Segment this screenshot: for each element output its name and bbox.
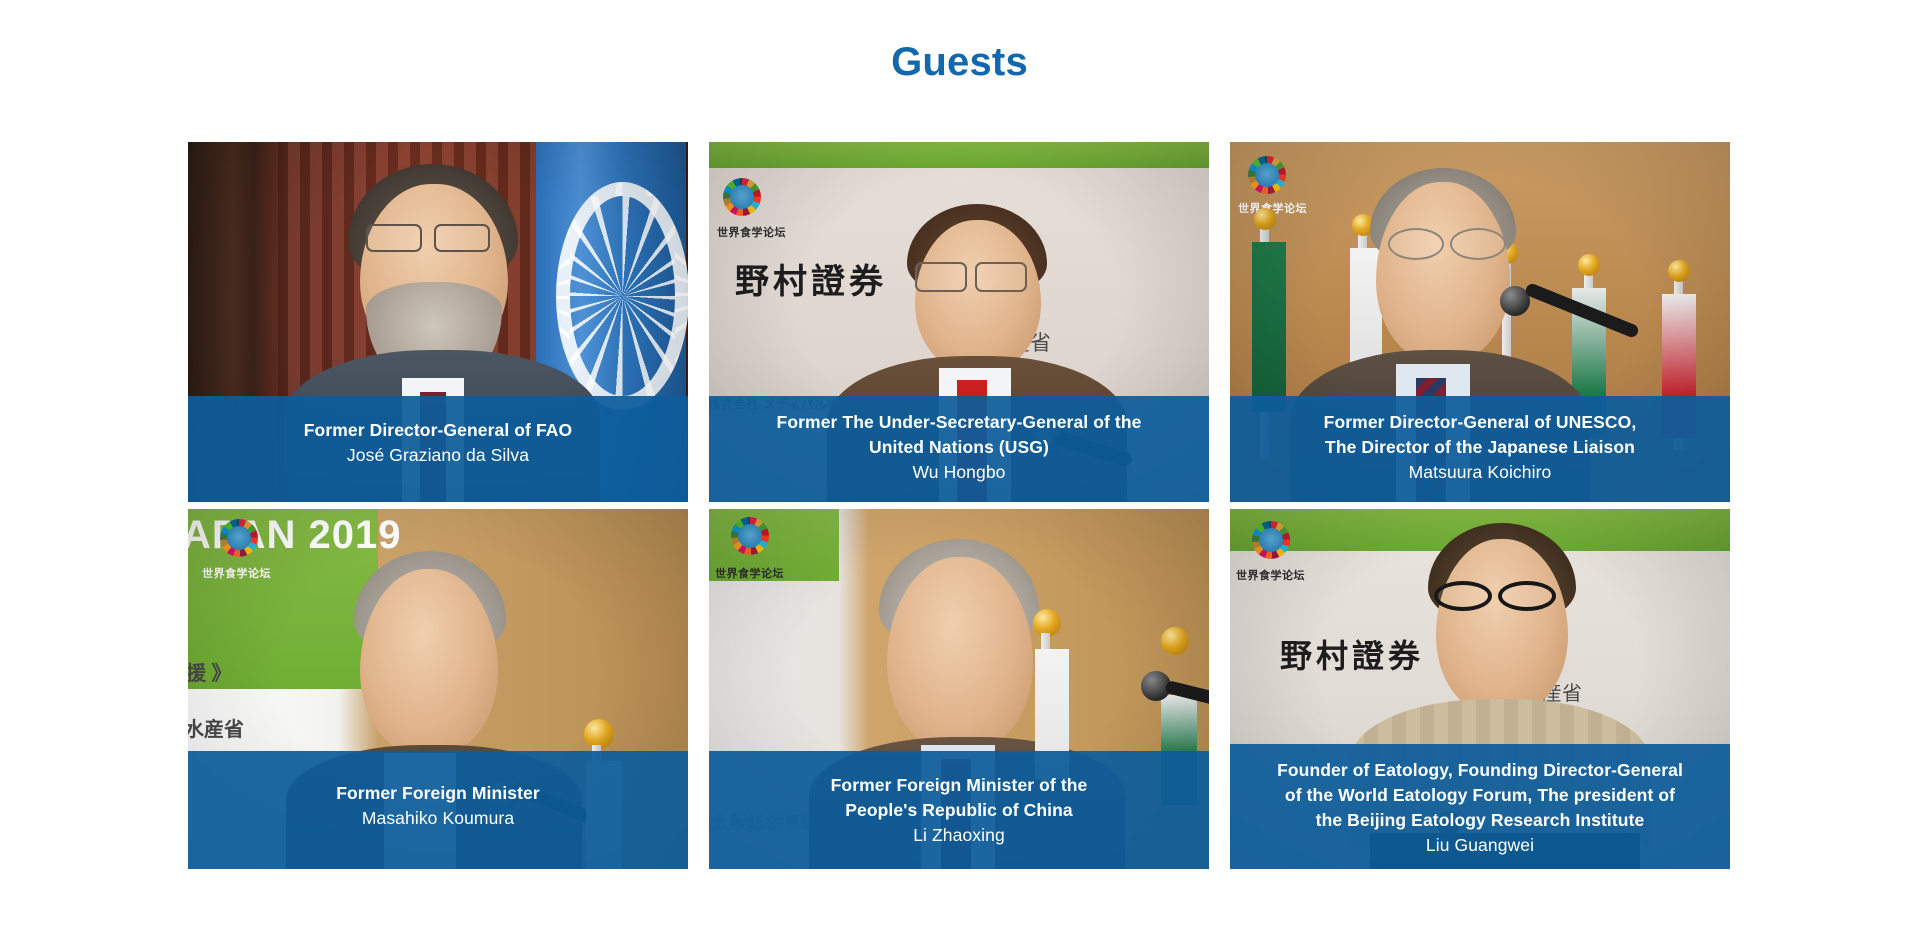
guest-card[interactable]: 世界食学论坛: [1230, 142, 1730, 502]
guest-role-line3: the Beijing Eatology Research Institute: [1246, 808, 1714, 833]
guest-role-line2: United Nations (USG): [725, 435, 1193, 460]
guest-caption: Former Foreign Minister Masahiko Koumura: [188, 751, 688, 869]
guest-name: Masahiko Koumura: [204, 806, 672, 831]
guest-card[interactable]: Former Director-General of FAO José Graz…: [188, 142, 688, 502]
guest-role-line1: Former Director-General of UNESCO,: [1246, 410, 1714, 435]
guest-card[interactable]: 世界食学论坛 野村證券 産省 県 株式会社 メディパルホ 》 Former Th…: [709, 142, 1209, 502]
guest-role-line1: Former The Under-Secretary-General of th…: [725, 410, 1193, 435]
page-title: Guests: [0, 40, 1919, 85]
guest-caption: Former Director-General of FAO José Graz…: [188, 396, 688, 502]
guest-card[interactable]: 世界食学论坛 駐大阪総領事館 Former Foreign Minister o…: [709, 509, 1209, 869]
guests-page: Guests Former Director-General of FAO Jo: [0, 0, 1919, 950]
guest-card[interactable]: APAN 2019 世界食学论坛 援 》 水産省 Former Foreign …: [188, 509, 688, 869]
guest-caption: Former Foreign Minister of the People's …: [709, 751, 1209, 869]
guest-role: Former Foreign Minister: [204, 781, 672, 806]
guests-grid: Former Director-General of FAO José Graz…: [188, 142, 1730, 869]
guest-name: José Graziano da Silva: [204, 443, 672, 468]
guest-role-line1: Founder of Eatology, Founding Director-G…: [1246, 758, 1714, 783]
guest-caption: Founder of Eatology, Founding Director-G…: [1230, 744, 1730, 869]
guest-role-line2: The Director of the Japanese Liaison: [1246, 435, 1714, 460]
guest-role: Former Director-General of FAO: [204, 418, 672, 443]
guest-role-line2: of the World Eatology Forum, The preside…: [1246, 783, 1714, 808]
guest-name: Li Zhaoxing: [725, 823, 1193, 848]
guest-name: Wu Hongbo: [725, 460, 1193, 485]
guest-role-line2: People's Republic of China: [725, 798, 1193, 823]
guest-name: Liu Guangwei: [1246, 833, 1714, 858]
guest-caption: Former Director-General of UNESCO, The D…: [1230, 396, 1730, 502]
guest-card[interactable]: 世界食学论坛 野村證券 省 水産省 》 Founder of Eatology,…: [1230, 509, 1730, 869]
guest-role-line1: Former Foreign Minister of the: [725, 773, 1193, 798]
guest-name: Matsuura Koichiro: [1246, 460, 1714, 485]
guest-caption: Former The Under-Secretary-General of th…: [709, 396, 1209, 502]
